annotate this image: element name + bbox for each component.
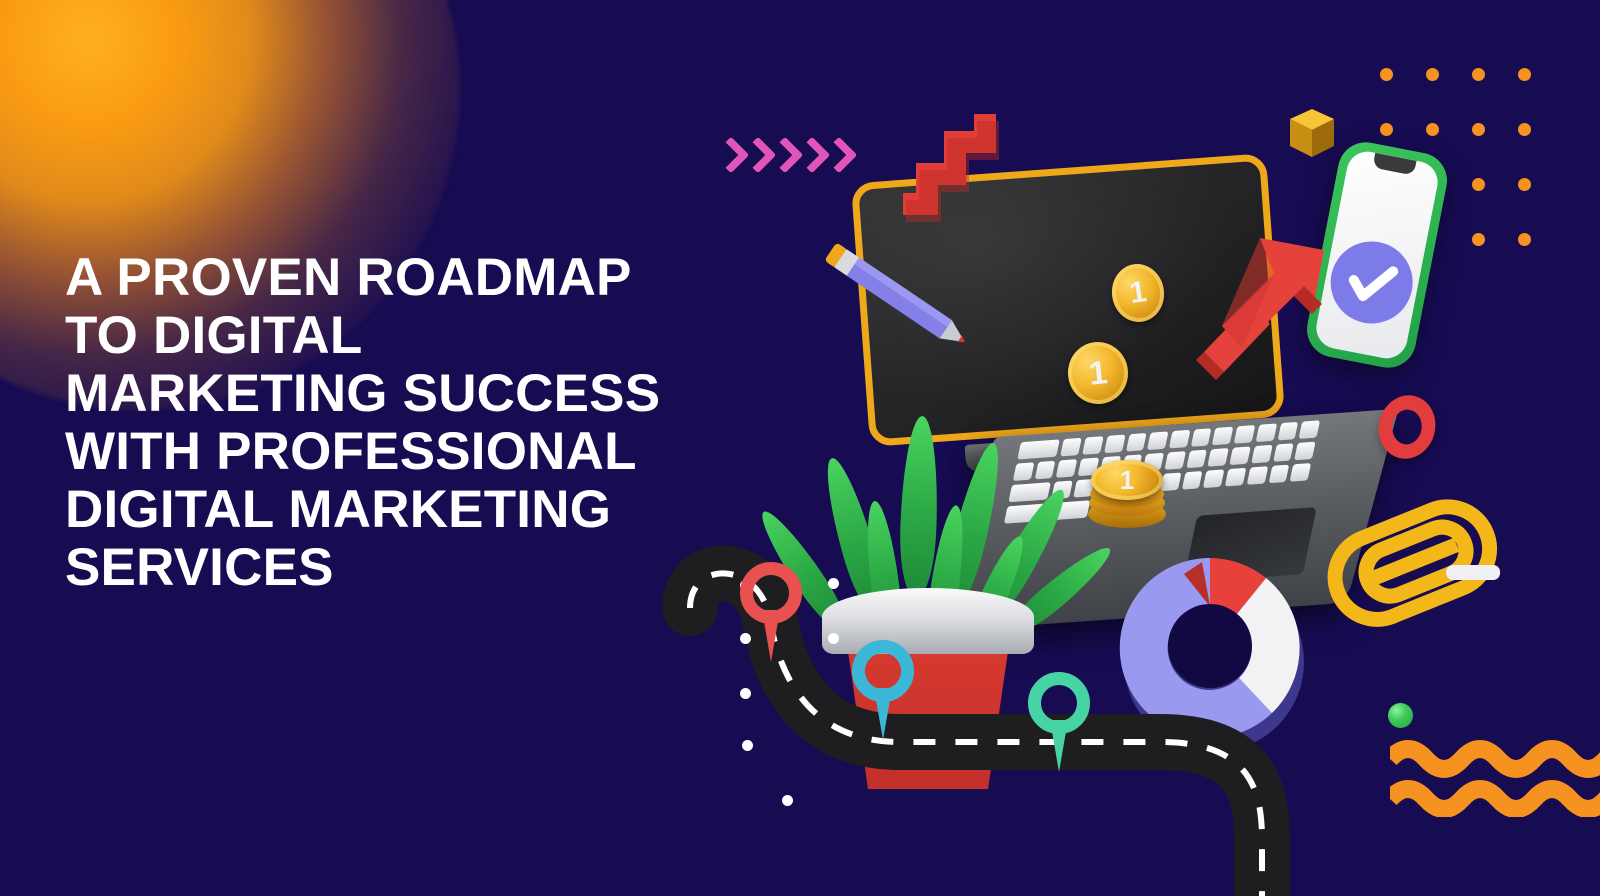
pin-tail-icon — [762, 610, 780, 662]
road-dot — [828, 578, 839, 589]
pin-tail-icon — [1050, 720, 1068, 772]
hero-banner: A PROVEN ROADMAP TO DIGITAL MARKETING SU… — [0, 0, 1600, 896]
road-dot — [742, 740, 753, 751]
roadmap-path — [0, 0, 1600, 896]
road-dot — [828, 633, 839, 644]
road-dot — [740, 688, 751, 699]
pin-tail-icon — [874, 688, 892, 740]
orange-wave-decoration — [1390, 737, 1600, 817]
green-sphere-decoration — [1388, 703, 1413, 728]
map-pin-red — [740, 562, 802, 662]
road-dot — [782, 795, 793, 806]
map-pin-teal — [1028, 672, 1090, 772]
map-pin-cyan — [852, 640, 914, 740]
